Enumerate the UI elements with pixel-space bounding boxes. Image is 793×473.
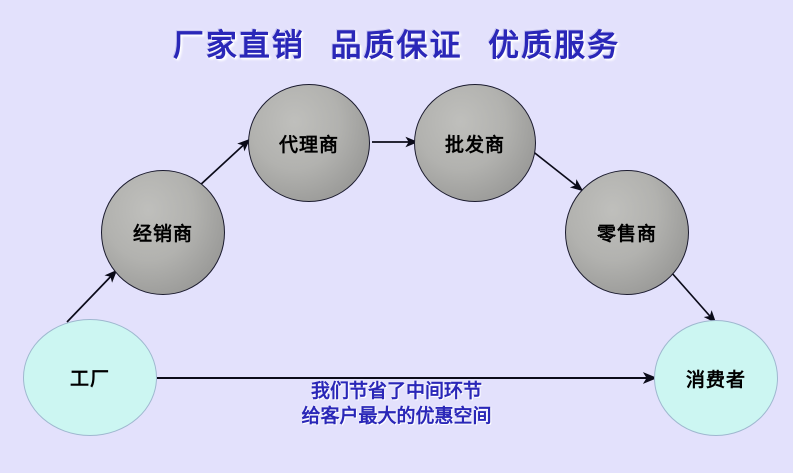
supply-chain-diagram: 厂家直销 品质保证 优质服务 工厂 经销商 代理商 批发商 零售商 消费者 我们… bbox=[0, 0, 793, 473]
caption-line-2: 给客户最大的优惠空间 bbox=[0, 404, 793, 429]
node-wholesaler-label: 批发商 bbox=[445, 130, 505, 157]
node-agent-label: 代理商 bbox=[279, 130, 339, 157]
node-dealer-label: 经销商 bbox=[133, 219, 193, 246]
node-retailer[interactable]: 零售商 bbox=[565, 170, 689, 295]
caption-line-1: 我们节省了中间环节 bbox=[0, 379, 793, 404]
edge-retail-to-consumer bbox=[671, 272, 716, 323]
node-agent[interactable]: 代理商 bbox=[248, 84, 370, 202]
edge-factory-to-dealer bbox=[67, 270, 117, 322]
page-title: 厂家直销 品质保证 优质服务 bbox=[0, 20, 793, 65]
edge-wholesale-to-retail bbox=[531, 150, 583, 191]
node-dealer[interactable]: 经销商 bbox=[101, 170, 225, 295]
node-retailer-label: 零售商 bbox=[597, 219, 657, 246]
node-wholesaler[interactable]: 批发商 bbox=[414, 84, 536, 202]
caption-block: 我们节省了中间环节 给客户最大的优惠空间 bbox=[0, 379, 793, 429]
edge-dealer-to-agent bbox=[198, 139, 250, 187]
